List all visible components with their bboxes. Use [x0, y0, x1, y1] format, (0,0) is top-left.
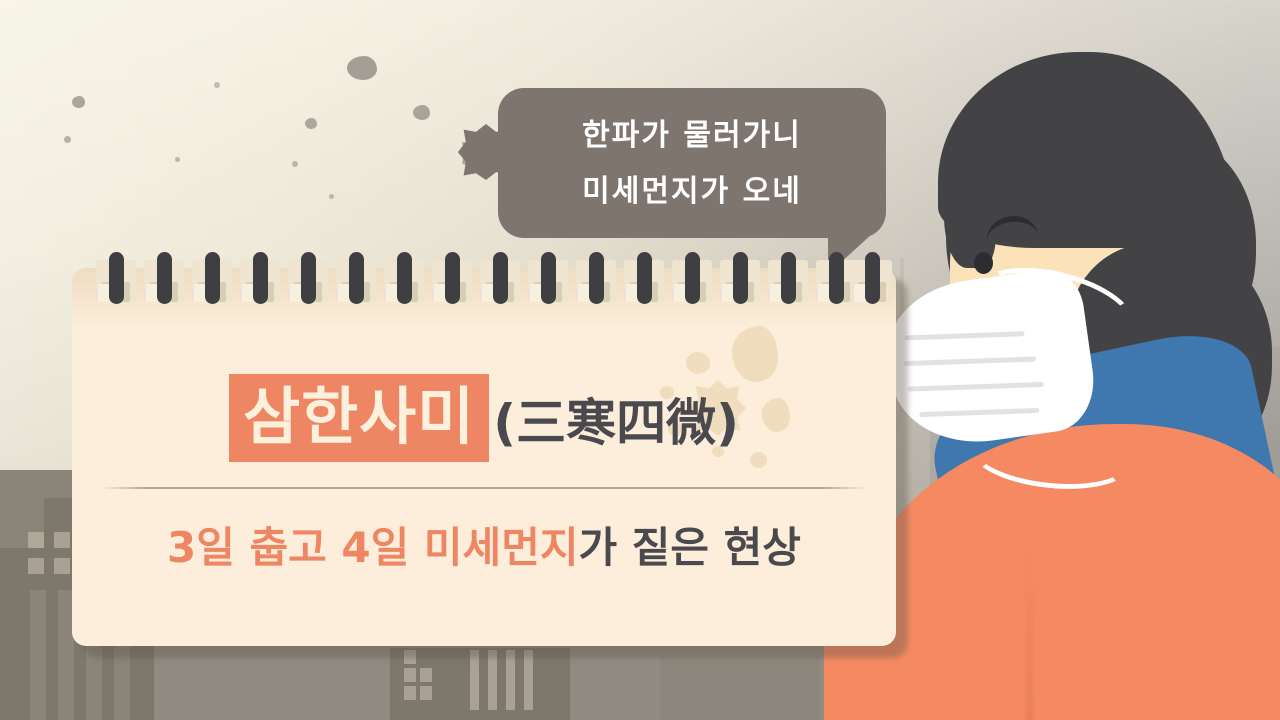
- eye: [974, 252, 993, 274]
- window-strip: [488, 650, 497, 710]
- spiral-ring: [733, 252, 748, 304]
- spiral-ring: [865, 252, 880, 304]
- foreground-building: [660, 656, 820, 720]
- spiral-ring: [637, 252, 652, 304]
- spiral-ring: [301, 252, 316, 304]
- dust-particle: [72, 96, 85, 108]
- subtitle: 3일 춥고 4일 미세먼지가 짙은 현상: [72, 514, 896, 575]
- window-strip: [524, 650, 533, 710]
- dust-particle: [413, 105, 430, 120]
- dust-particle: [347, 56, 377, 80]
- spiral-ring: [253, 252, 268, 304]
- window: [420, 668, 432, 682]
- window-strip: [470, 650, 479, 710]
- spiral-ring: [157, 252, 172, 304]
- window: [54, 532, 70, 548]
- title-korean: 삼한사미: [229, 374, 489, 462]
- pad-dust-blob: [686, 352, 710, 374]
- window: [28, 532, 44, 548]
- spiral-ring: [397, 252, 412, 304]
- spiral-ring: [493, 252, 508, 304]
- spiral-ring: [589, 252, 604, 304]
- dust-particle: [175, 157, 180, 162]
- subtitle-part-dark: 가 짙은 현상: [578, 523, 800, 572]
- window: [28, 558, 44, 574]
- window: [54, 558, 70, 574]
- speech-bubble-line-2: 미세먼지가 오네: [498, 166, 886, 210]
- spiral-ring: [445, 252, 460, 304]
- notepad: 삼한사미 (三寒四微) 3일 춥고 4일 미세먼지가 짙은 현상: [72, 268, 896, 646]
- dust-particle: [64, 136, 71, 143]
- title-hanja: (三寒四微): [493, 398, 739, 462]
- mask-pleat: [908, 382, 1044, 392]
- window: [420, 686, 432, 700]
- window-strip: [506, 650, 515, 710]
- spiral-ring: [781, 252, 796, 304]
- dust-particle: [292, 161, 298, 167]
- spiral-ring: [829, 252, 844, 304]
- spiral-ring: [685, 252, 700, 304]
- illustration-canvas: 한파가 물러가니 미세먼지가 오네: [0, 0, 1280, 720]
- mask-pleat: [904, 331, 1024, 340]
- speech-bubble-line-1: 한파가 물러가니: [498, 110, 886, 154]
- foreground-building-column: [30, 590, 46, 720]
- spiral-ring: [349, 252, 364, 304]
- divider-line: [100, 487, 868, 489]
- dust-particle: [329, 194, 334, 199]
- dust-particle: [305, 118, 317, 129]
- mask-pleat: [904, 356, 1036, 366]
- dust-particle: [214, 82, 220, 88]
- window: [404, 686, 416, 700]
- hair-sideburn: [944, 150, 996, 268]
- subtitle-part-orange: 3일 춥고 4일 미세먼지: [167, 523, 578, 572]
- foreground-building: [390, 648, 570, 720]
- coat-fold: [1026, 548, 1033, 720]
- spiral-ring: [541, 252, 556, 304]
- spiral-ring: [109, 252, 124, 304]
- title-row: 삼한사미 (三寒四微): [72, 374, 896, 462]
- speech-bubble: 한파가 물러가니 미세먼지가 오네: [498, 88, 886, 238]
- window: [404, 668, 416, 682]
- mask-pleat: [919, 408, 1039, 417]
- spiral-ring: [205, 252, 220, 304]
